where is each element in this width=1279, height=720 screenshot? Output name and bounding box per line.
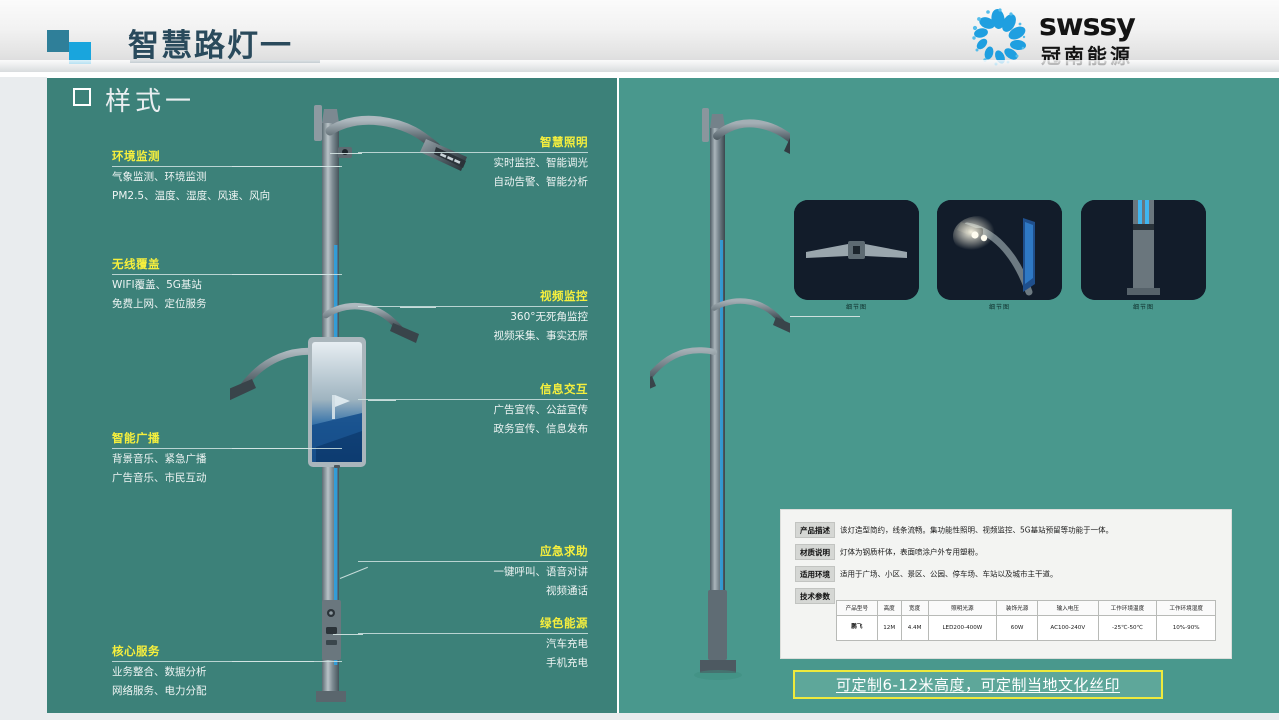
callout-line: 视频通话 (358, 581, 588, 600)
callout-line: 视频采集、事实还原 (358, 326, 588, 345)
callout-rule (358, 306, 588, 307)
specification-table: 产品型号 高度 宽度 照明光源 装饰光源 输入电压 工作环境温度 工作环境湿度 … (836, 600, 1216, 641)
col-width: 宽度 (901, 601, 928, 616)
callout-line: 一键呼叫、语音对讲 (358, 562, 588, 581)
callout-title: 智慧照明 (358, 134, 588, 152)
callout-line: 实时监控、智能调光 (358, 153, 588, 172)
slide-header: 智慧路灯一 (0, 0, 1279, 72)
col-humidity-range: 工作环境湿度 (1157, 601, 1216, 616)
callout-line: 业务整合、数据分析 (112, 662, 342, 681)
spec-row-environment: 适用环境适用于广场、小区、景区、公园、停车场、车站以及城市主干道。 (795, 566, 1058, 582)
callout-rule (358, 152, 588, 153)
col-light-source: 照明光源 (928, 601, 997, 616)
callout-title: 无线覆盖 (112, 256, 342, 274)
cell-width: 4.4M (901, 616, 928, 641)
spec-tag: 产品描述 (795, 522, 835, 538)
brand-logo: swssy 冠南能源 (967, 6, 1217, 68)
callout-line: 背景音乐、紧急广播 (112, 449, 342, 468)
leader-line (400, 307, 436, 308)
col-input-voltage: 输入电压 (1037, 601, 1098, 616)
detail-thumbnail-2[interactable] (937, 200, 1062, 300)
spec-row-material: 材质说明灯体为钢质杆体，表面喷涂户外专用塑粉。 (795, 544, 983, 560)
callout-smart-lighting: 智慧照明 实时监控、智能调光 自动告警、智能分析 (358, 134, 588, 191)
leader-line (232, 661, 314, 662)
callout-line: 广告宣传、公益宣传 (358, 400, 588, 419)
callout-line: PM2.5、温度、湿度、风速、风向 (112, 186, 342, 205)
callout-emergency-help: 应急求助 一键呼叫、语音对讲 视频通话 (358, 543, 588, 600)
callout-wireless-coverage: 无线覆盖 WIFI覆盖、5G基站 免费上网、定位服务 (112, 256, 342, 313)
spec-row-description: 产品描述该灯造型简约，线条流畅。集功能性照明、视频监控、5G基站预留等功能于一体… (795, 522, 1113, 538)
callout-environment-monitoring: 环境监测 气象监测、环境监测 PM2.5、温度、湿度、风速、风向 (112, 148, 342, 205)
callout-line: 汽车充电 (358, 634, 588, 653)
cell-input-voltage: AC100-240V (1037, 616, 1098, 641)
col-decor-light: 装饰光源 (997, 601, 1038, 616)
col-height: 高度 (877, 601, 901, 616)
left-margin-strip (0, 77, 47, 720)
col-model: 产品型号 (837, 601, 878, 616)
detail-thumbnail-1[interactable] (794, 200, 919, 300)
leader-line (368, 400, 396, 401)
callout-line: 360°无死角监控 (358, 307, 588, 326)
spec-tag: 技术参数 (795, 588, 835, 604)
callout-line: 手机充电 (358, 653, 588, 672)
callout-core-services: 核心服务 业务整合、数据分析 网络服务、电力分配 (112, 643, 342, 700)
spec-value: 适用于广场、小区、景区、公园、停车场、车站以及城市主干道。 (840, 570, 1058, 579)
callout-rule (358, 561, 588, 562)
brand-wordmark: swssy (1039, 8, 1135, 43)
cell-temp-range: -25℃-50℃ (1098, 616, 1157, 641)
bottom-margin-strip (0, 713, 1279, 720)
table-header-row: 产品型号 高度 宽度 照明光源 装饰光源 输入电压 工作环境温度 工作环境湿度 (837, 601, 1216, 616)
col-temp-range: 工作环境温度 (1098, 601, 1157, 616)
leader-line (330, 153, 362, 154)
callout-line: 网络服务、电力分配 (112, 681, 342, 700)
lamp-arm-detail-image (794, 200, 919, 300)
leader-line (232, 448, 312, 449)
callout-line: 政务宣传、信息发布 (358, 419, 588, 438)
callout-line: 广告音乐、市民互动 (112, 468, 342, 487)
callout-title: 视频监控 (358, 288, 588, 306)
callout-title: 绿色能源 (358, 615, 588, 633)
callout-title: 应急求助 (358, 543, 588, 561)
spec-tag: 材质说明 (795, 544, 835, 560)
callout-title: 核心服务 (112, 643, 342, 661)
slide-root: 智慧路灯一 (0, 0, 1279, 720)
table-row: 鹏飞 12M 4.4M LED200-400W 60W AC100-240V -… (837, 616, 1216, 641)
callout-title: 环境监测 (112, 148, 342, 166)
thumbnail-rule (790, 316, 860, 317)
cell-height: 12M (877, 616, 901, 641)
callout-rule (358, 633, 588, 634)
detail-thumbnail-2-caption: 细节图 (937, 302, 1062, 311)
detail-thumbnail-1-caption: 细节图 (794, 302, 919, 311)
section-bullet-icon (73, 88, 91, 106)
callout-video-surveillance: 视频监控 360°无死角监控 视频采集、事实还原 (358, 288, 588, 345)
section-title: 样式一 (105, 81, 195, 118)
streetlight-product-render (650, 80, 790, 705)
cell-light-source: LED200-400W (928, 616, 997, 641)
callout-line: 自动告警、智能分析 (358, 172, 588, 191)
spec-value: 该灯造型简约，线条流畅。集功能性照明、视频监控、5G基站预留等功能于一体。 (840, 526, 1113, 535)
cell-humidity-range: 10%-90% (1157, 616, 1216, 641)
detail-thumbnail-3-caption: 细节图 (1081, 302, 1206, 311)
spec-value: 灯体为钢质杆体，表面喷涂户外专用塑粉。 (840, 548, 983, 557)
callout-title: 信息交互 (358, 381, 588, 399)
page-title: 智慧路灯一 (128, 20, 293, 65)
specification-card: 产品描述该灯造型简约，线条流畅。集功能性照明、视频监控、5G基站预留等功能于一体… (781, 510, 1231, 658)
spec-tag: 适用环境 (795, 566, 835, 582)
callout-smart-broadcast: 智能广播 背景音乐、紧急广播 广告音乐、市民互动 (112, 430, 342, 487)
callout-line: 气象监测、环境监测 (112, 167, 342, 186)
leader-line (232, 166, 340, 167)
spec-row-parameters: 技术参数 (795, 588, 840, 604)
leader-line (232, 274, 332, 275)
header-square-dark-icon (47, 30, 69, 52)
customization-banner-text: 可定制6-12米高度，可定制当地文化丝印 (836, 674, 1120, 695)
leader-line (333, 634, 363, 635)
callout-title: 智能广播 (112, 430, 342, 448)
callout-information-interaction: 信息交互 广告宣传、公益宣传 政务宣传、信息发布 (358, 381, 588, 438)
lamp-head-lit-detail-image (937, 200, 1062, 300)
cell-decor-light: 60W (997, 616, 1038, 641)
detail-thumbnail-3[interactable] (1081, 200, 1206, 300)
pole-column-detail-image (1081, 200, 1206, 300)
header-sheen (0, 60, 1279, 72)
callout-green-energy: 绿色能源 汽车充电 手机充电 (358, 615, 588, 672)
customization-banner: 可定制6-12米高度，可定制当地文化丝印 (793, 670, 1163, 699)
callout-line: 免费上网、定位服务 (112, 294, 342, 313)
callout-line: WIFI覆盖、5G基站 (112, 275, 342, 294)
cell-model: 鹏飞 (837, 616, 878, 641)
water-drop-flower-icon (967, 8, 1029, 66)
